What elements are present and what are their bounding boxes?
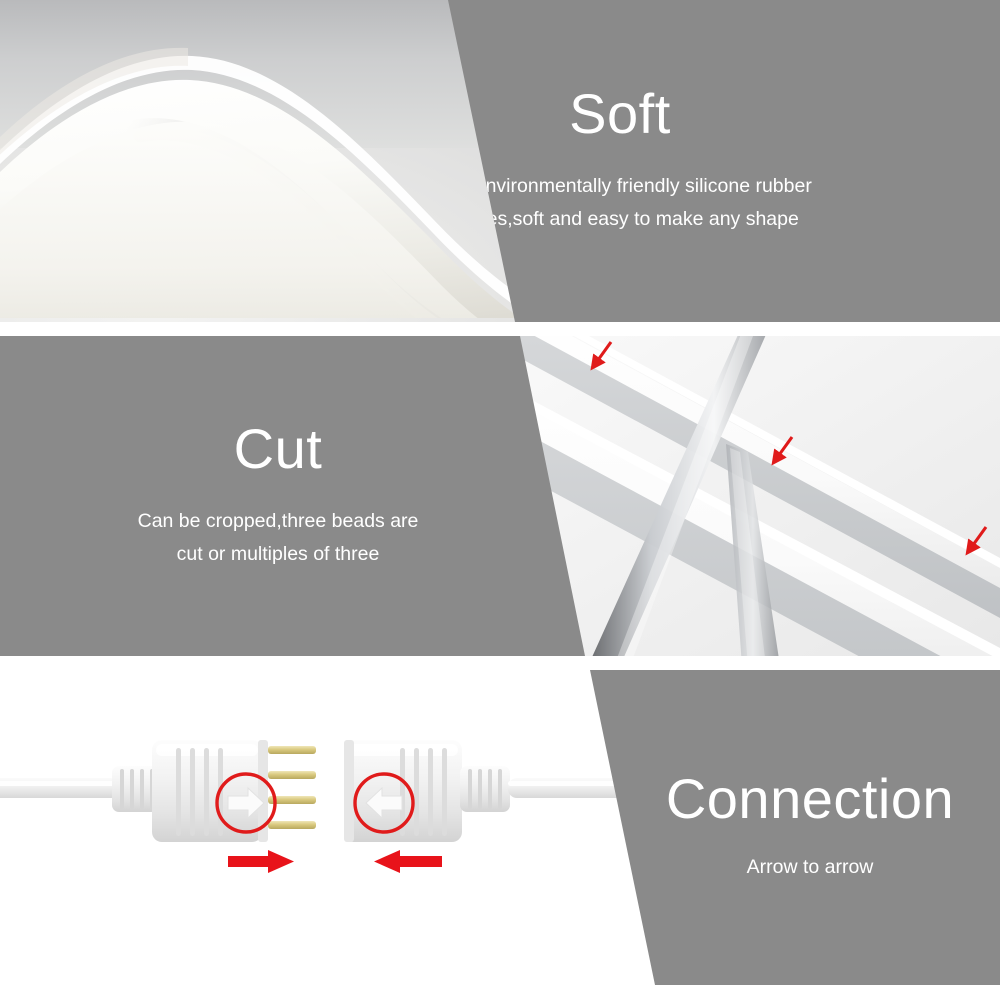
panel-soft: Soft User environmentally friendly silic…	[0, 0, 1000, 322]
cut-heading: Cut	[138, 420, 419, 479]
red-arrow-icon-2	[774, 437, 792, 462]
left-cable	[0, 778, 120, 798]
right-strain-relief	[460, 766, 510, 812]
panel-connection: Connection Arrow to arrow	[0, 670, 1000, 985]
connection-subline-1: Arrow to arrow	[666, 851, 954, 885]
left-strain-relief	[112, 766, 158, 812]
soft-photo	[0, 0, 520, 322]
red-arrow-icon-1	[593, 342, 611, 367]
connection-heading: Connection	[666, 770, 954, 829]
panel-cut: Cut Can be cropped,three beads are cut o…	[0, 336, 1000, 656]
cut-subline-1: Can be cropped,three beads are	[138, 505, 419, 539]
red-arrow-icon-3	[968, 527, 986, 552]
cut-subline-2: cut or multiples of three	[138, 538, 419, 572]
connection-photo	[0, 670, 680, 985]
silicone-strip-illustration	[0, 18, 520, 318]
product-infographic: Soft User environmentally friendly silic…	[0, 0, 1000, 1000]
soft-heading: Soft	[428, 85, 812, 144]
connector-illustration	[0, 670, 680, 985]
